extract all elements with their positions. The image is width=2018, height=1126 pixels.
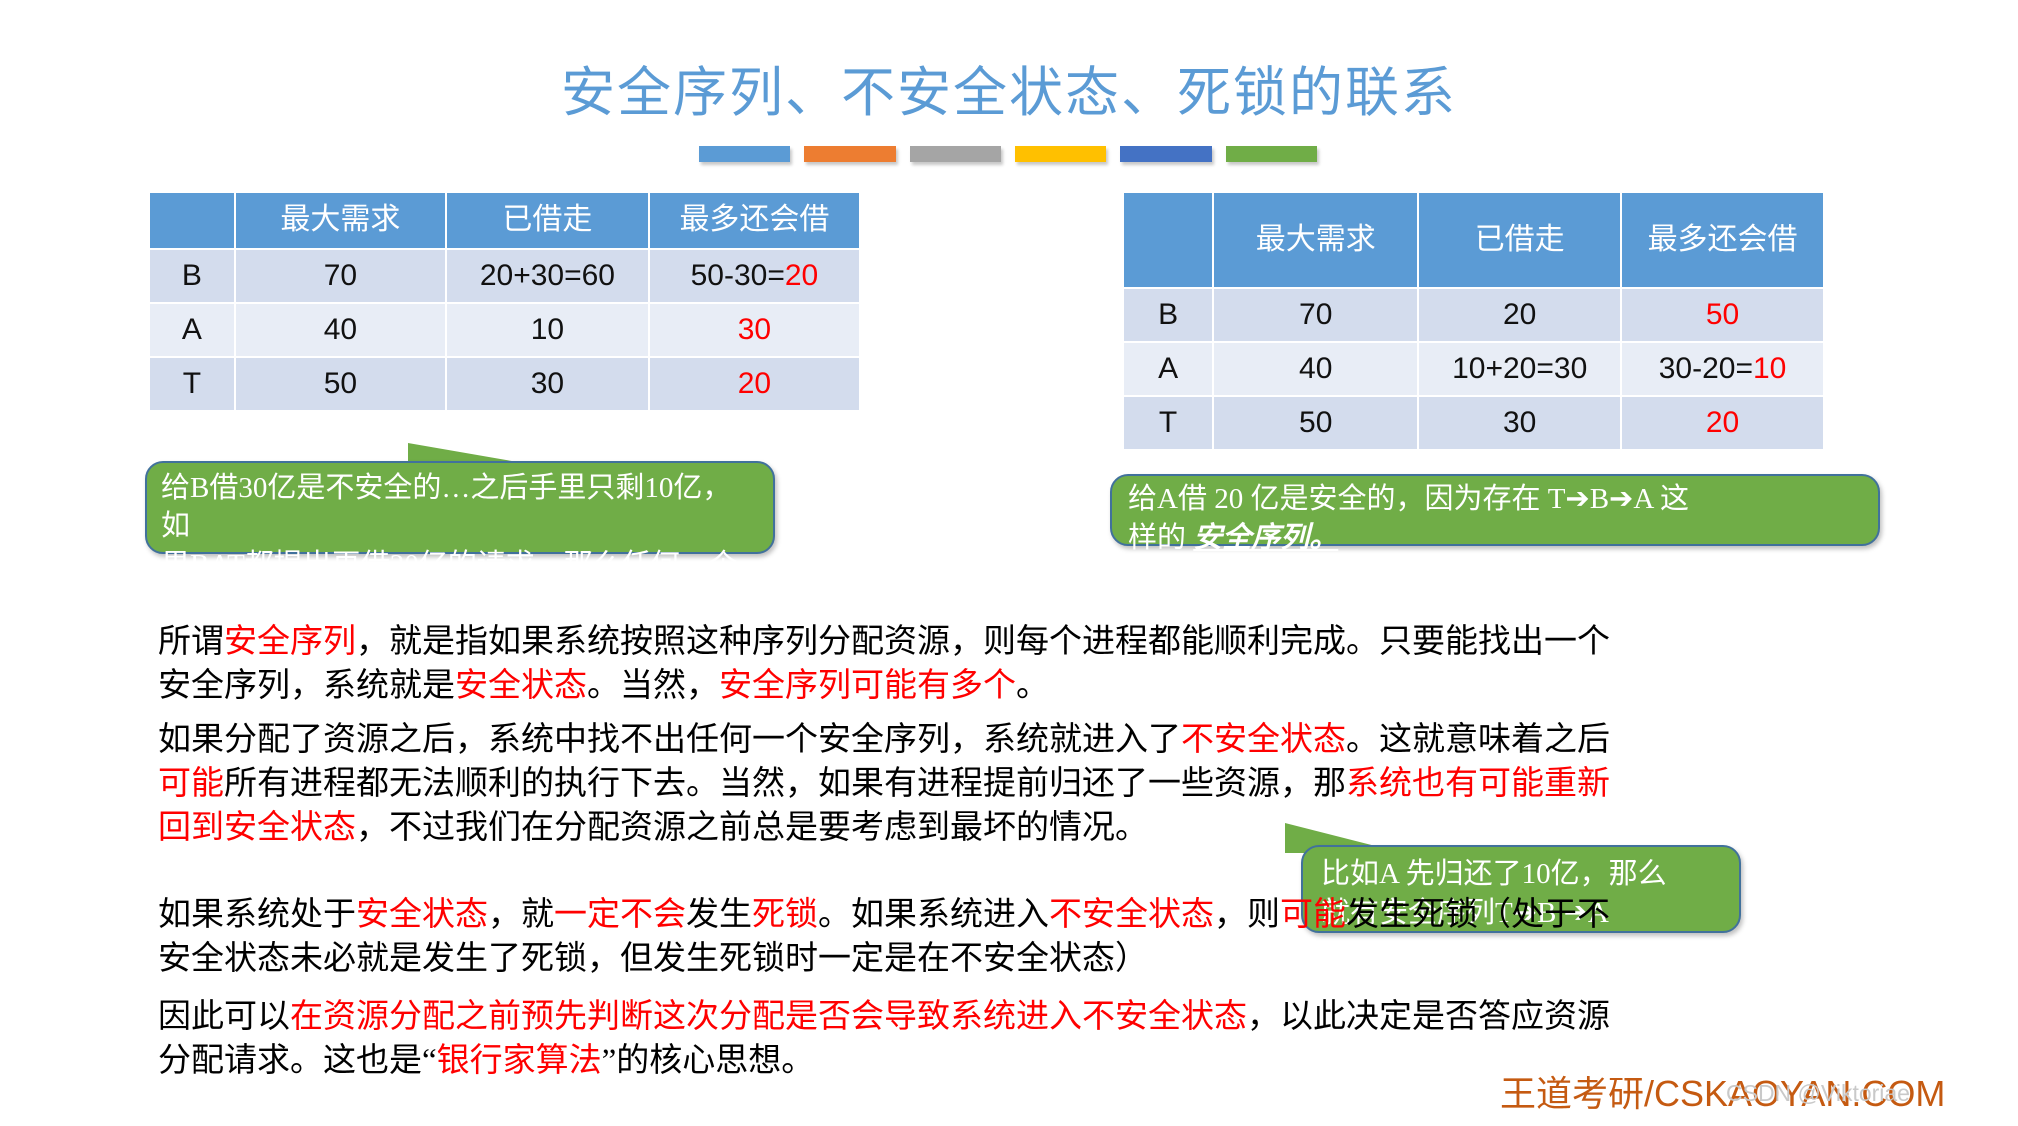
column-header-borrowed: 已借走 [446,192,649,249]
cell-process-label: A [1123,342,1213,396]
accent-segment-1 [699,146,790,162]
cell-remaining-prefix: 50-30= [691,259,785,292]
table-header-row: 最大需求 已借走 最多还会借 [149,192,860,249]
highlight-text: 不安全状态 [1181,722,1346,758]
highlight-text: 系统也有可能重新 [1346,766,1610,802]
cell-process-label: T [149,357,235,411]
paragraph-line: 回到安全状态，不过我们在分配资源之前总是要考虑到最坏的情况。 [158,806,1878,850]
body-text: ，不过我们在分配资源之前总是要考虑到最坏的情况。 [356,810,1148,846]
cell-remaining: 20 [1621,396,1824,450]
table-row: B702050 [1123,288,1824,342]
cell-process-label: T [1123,396,1213,450]
callout-line: 给B借30亿是不安全的…之后手里只剩10亿，如 [161,469,759,546]
cell-max-demand: 50 [235,357,446,411]
safe-sequence-emphasis: 安全序列。 [1193,522,1338,554]
body-text: ，以此决定是否答应资源 [1247,999,1610,1035]
column-header-borrowed: 已借走 [1418,192,1621,288]
body-text: ，就 [488,897,554,933]
cell-process-label: B [1123,288,1213,342]
highlight-text: 安全序列可能有多个 [719,668,1016,704]
callout-line: 比如A 先归还了10亿，那么 [1321,855,1721,894]
paragraph-line: 安全状态未必就是发生了死锁，但发生死锁时一定是在不安全状态） [158,937,1878,981]
table-body: B702050A4010+20=3030-20=10T503020 [1123,288,1824,450]
accent-segment-5 [1120,146,1211,162]
cell-borrowed: 20+30=60 [446,249,649,303]
highlight-text: 在资源分配之前预先判断这次分配是否会导致系统进入不安全状态 [290,999,1247,1035]
body-text: 。如果系统进入 [818,897,1049,933]
highlight-text: 一定不会 [554,897,686,933]
cell-max-demand: 70 [1213,288,1418,342]
body-text: 分配请求。这也是“ [158,1043,437,1079]
highlight-text: 不安全状态 [1049,897,1214,933]
body-text: 。这就意味着之后 [1346,722,1610,758]
highlight-text: 可能 [1280,897,1346,933]
cell-process-label: B [149,249,235,303]
table-corner-cell [149,192,235,249]
callout-line: 果BAT都提出再借20亿的请求，那么任何一个企 [161,546,759,623]
cell-remaining-value: 50 [1706,298,1739,331]
callout-line: 样的 安全序列。 [1128,519,1862,558]
body-text: 如果分配了资源之后，系统中找不出任何一个安全序列，系统就进入了 [158,722,1181,758]
highlight-text: 安全状态 [356,897,488,933]
body-text: ”的核心思想。 [602,1043,815,1079]
body-text: 所有进程都无法顺利的执行下去。当然，如果有进程提前归还了一些资源，那 [224,766,1346,802]
accent-segment-6 [1226,146,1317,162]
table-row: A4010+20=3030-20=10 [1123,342,1824,396]
body-text: 如果系统处于 [158,897,356,933]
highlight-text: 安全序列 [224,624,356,660]
highlight-text: 回到安全状态 [158,810,356,846]
cell-remaining-value: 30 [738,313,771,346]
callout-line: 给A借 20 亿是安全的，因为存在 T➔B➔A 这 [1128,480,1862,519]
table-body: B7020+30=6050-30=20A401030T503020 [149,249,860,411]
column-header-remaining: 最多还会借 [649,192,860,249]
cell-max-demand: 40 [235,303,446,357]
callout-text: 样的 [1128,522,1193,554]
paragraph-deadlock-relation: 如果系统处于安全状态，就一定不会发生死锁。如果系统进入不安全状态，则可能发生死锁… [158,893,1878,981]
paragraph-line: 安全序列，系统就是安全状态。当然，安全序列可能有多个。 [158,664,1878,708]
cell-remaining-value: 20 [738,367,771,400]
cell-borrowed: 10+20=30 [1418,342,1621,396]
paragraph-unsafe-state: 如果分配了资源之后，系统中找不出任何一个安全序列，系统就进入了不安全状态。这就意… [158,718,1878,851]
cell-remaining-value: 20 [785,259,818,292]
cell-remaining: 50-30=20 [649,249,860,303]
body-text: 。当然， [587,668,719,704]
highlight-text: 可能 [158,766,224,802]
paragraph-line: 可能所有进程都无法顺利的执行下去。当然，如果有进程提前归还了一些资源，那系统也有… [158,762,1878,806]
paragraph-line: 因此可以在资源分配之前预先判断这次分配是否会导致系统进入不安全状态，以此决定是否… [158,995,1878,1039]
highlight-text: 银行家算法 [437,1043,602,1079]
paragraph-line: 如果分配了资源之后，系统中找不出任何一个安全序列，系统就进入了不安全状态。这就意… [158,718,1878,762]
table-header-row: 最大需求 已借走 最多还会借 [1123,192,1824,288]
highlight-text: 安全状态 [455,668,587,704]
accent-color-bar [699,146,1317,162]
callout-unsafe-explanation: 给B借30亿是不安全的…之后手里只剩10亿，如 果BAT都提出再借20亿的请求，… [145,461,775,554]
table-row: A401030 [149,303,860,357]
cell-remaining-prefix: 30-20= [1659,352,1753,385]
page-title: 安全序列、不安全状态、死锁的联系 [0,48,2018,127]
table-corner-cell [1123,192,1213,288]
cell-remaining: 30 [649,303,860,357]
cell-borrowed: 30 [446,357,649,411]
csdn-watermark: CSDN @Viktoriae [1726,1080,1910,1107]
column-header-max-demand: 最大需求 [235,192,446,249]
cell-max-demand: 50 [1213,396,1418,450]
cell-remaining-value: 20 [1706,406,1739,439]
cell-borrowed: 30 [1418,396,1621,450]
cell-borrowed: 10 [446,303,649,357]
paragraph-line: 所谓安全序列，就是指如果系统按照这种序列分配资源，则每个进程都能顺利完成。只要能… [158,620,1878,664]
body-text: 所谓 [158,624,224,660]
body-text: ，就是指如果系统按照这种序列分配资源，则每个进程都能顺利完成。只要能找出一个 [356,624,1610,660]
accent-segment-3 [910,146,1001,162]
body-text: 发生死锁（处于不 [1346,897,1610,933]
cell-remaining: 50 [1621,288,1824,342]
body-text: 安全序列，系统就是 [158,668,455,704]
paragraph-safe-sequence: 所谓安全序列，就是指如果系统按照这种序列分配资源，则每个进程都能顺利完成。只要能… [158,620,1878,708]
body-text: ，则 [1214,897,1280,933]
cell-max-demand: 40 [1213,342,1418,396]
table-row: T503020 [149,357,860,411]
table-row: B7020+30=6050-30=20 [149,249,860,303]
safe-state-table: 最大需求 已借走 最多还会借 B702050A4010+20=3030-20=1… [1122,191,1825,451]
cell-process-label: A [149,303,235,357]
column-header-remaining: 最多还会借 [1621,192,1824,288]
accent-segment-2 [804,146,895,162]
callout-safe-explanation: 给A借 20 亿是安全的，因为存在 T➔B➔A 这 样的 安全序列。 [1110,474,1880,546]
cell-remaining: 20 [649,357,860,411]
cell-remaining-value: 10 [1753,352,1786,385]
body-text: 。 [1016,668,1049,704]
body-text: 发生 [686,897,752,933]
cell-remaining: 30-20=10 [1621,342,1824,396]
highlight-text: 死锁 [752,897,818,933]
cell-max-demand: 70 [235,249,446,303]
body-text: 因此可以 [158,999,290,1035]
unsafe-state-table: 最大需求 已借走 最多还会借 B7020+30=6050-30=20A40103… [148,191,861,412]
accent-segment-4 [1015,146,1106,162]
column-header-max-demand: 最大需求 [1213,192,1418,288]
table-row: T503020 [1123,396,1824,450]
cell-borrowed: 20 [1418,288,1621,342]
paragraph-line: 如果系统处于安全状态，就一定不会发生死锁。如果系统进入不安全状态，则可能发生死锁… [158,893,1878,937]
body-text: 安全状态未必就是发生了死锁，但发生死锁时一定是在不安全状态） [158,941,1148,977]
